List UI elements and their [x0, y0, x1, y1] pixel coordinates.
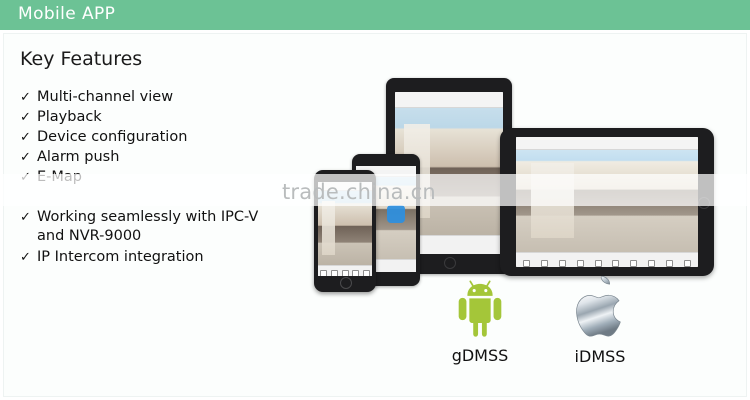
feature-label: IP Intercom integration [37, 248, 204, 267]
app-bottombar [318, 265, 372, 276]
toolbar-icon [559, 260, 566, 267]
toolbar-icon [648, 260, 655, 267]
toolbar-icon [612, 260, 619, 267]
android-app-logo-block: gDMSS [432, 278, 528, 365]
feature-label: Multi-channel view [37, 88, 173, 107]
android-app-caption: gDMSS [432, 346, 528, 365]
toolbar-icon [320, 270, 327, 276]
toolbar-icon [595, 260, 602, 267]
play-badge-icon [387, 205, 405, 223]
app-toolbar-icons [523, 261, 690, 267]
check-icon: ✓ [20, 148, 37, 167]
toolbar-icon [684, 260, 691, 267]
toolbar-icon [331, 270, 338, 276]
app-bottombar [516, 252, 698, 267]
feature-label: Device configuration [37, 128, 187, 147]
app-topbar [395, 92, 503, 108]
toolbar-icon [342, 270, 349, 276]
check-icon: ✓ [20, 208, 37, 227]
feature-label: Working seamlessly with IPC-V and NVR-90… [37, 208, 258, 246]
toolbar-icon [666, 260, 673, 267]
feature-label: Playback [37, 108, 102, 127]
slide-root: Mobile APP Key Features ✓ Multi-channel … [0, 0, 750, 400]
toolbar-icon [630, 260, 637, 267]
toolbar-icon [523, 260, 530, 267]
section-title: Key Features [20, 48, 142, 70]
home-button-icon [340, 277, 352, 289]
app-topbar [516, 137, 698, 150]
apple-logo-icon [570, 275, 630, 341]
home-button-icon [444, 257, 456, 269]
check-icon: ✓ [20, 128, 37, 147]
feature-label: Alarm push [37, 148, 119, 167]
app-toolbar-icons [320, 272, 370, 276]
check-icon: ✓ [20, 248, 37, 267]
watermark-text: trade.china.cn [282, 180, 436, 204]
check-icon: ✓ [20, 88, 37, 107]
toolbar-icon [352, 270, 359, 276]
toolbar-icon [541, 260, 548, 267]
apple-app-logo-block: iDMSS [552, 275, 648, 366]
page-title: Mobile APP [18, 4, 115, 24]
check-icon: ✓ [20, 108, 37, 127]
toolbar-icon [577, 260, 584, 267]
toolbar-icon [363, 270, 370, 276]
apple-app-caption: iDMSS [552, 347, 648, 366]
android-robot-icon [449, 278, 511, 340]
